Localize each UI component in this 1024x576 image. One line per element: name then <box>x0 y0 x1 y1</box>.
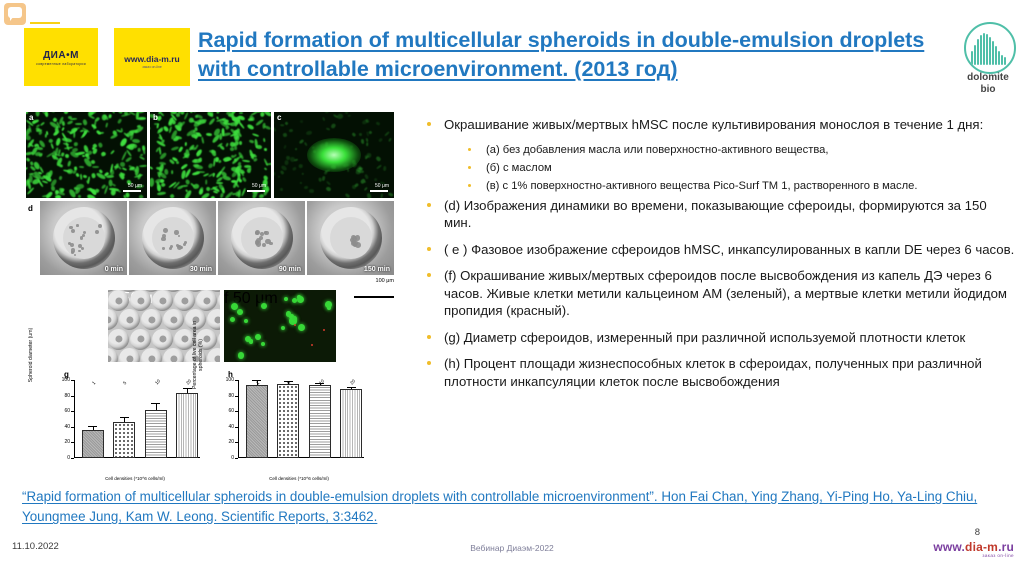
chart-g: g Spheroid diameter (um) 020406080100151… <box>40 372 210 490</box>
bullet-subitem: (а) без добавления масла или поверхностн… <box>462 143 1016 158</box>
bullet-item: (d) Изображения динамики во времени, пок… <box>424 197 1016 232</box>
panel-d-label: d <box>28 204 33 213</box>
chart-g-ylabel: Spheroid diameter (um) <box>28 320 34 390</box>
panel-d-scale-bar <box>354 296 394 298</box>
logo-dolomite-line2: bio <box>958 84 1018 95</box>
y-axis-tick <box>71 442 74 443</box>
bullet-subitem: (в) с 1% поверхностно-активного вещества… <box>462 179 1016 194</box>
chart-bar <box>246 385 268 458</box>
figure-row-ef: e 50 μm f 50 μm <box>108 290 338 362</box>
x-axis-tick-label: 5 <box>122 380 127 385</box>
panel-f-label: f <box>224 290 228 307</box>
citation-link[interactable]: “Rapid formation of multicellular sphero… <box>22 487 997 527</box>
slide-root: ДИА•М современные лаборатории www.dia-m.… <box>0 0 1024 576</box>
y-axis-tick-label: 40 <box>228 424 234 430</box>
error-bar <box>124 418 125 422</box>
footer-center-text: Вебинар Диаэм-2022 <box>0 543 1024 553</box>
bullet-item: (g) Диаметр сфероидов, измеренный при ра… <box>424 329 1016 347</box>
y-axis-tick <box>71 411 74 412</box>
y-axis-tick <box>235 380 238 381</box>
droplet-time-0: 0 min <box>105 266 123 273</box>
logo-diam-name: ДИА•М <box>24 50 98 61</box>
logo-diam-tagline: современные лаборатории <box>24 62 98 66</box>
figure-row-abc: a 50 μm b 50 μm c 50 μm <box>26 112 394 198</box>
bullet-item: Окрашивание живых/мертвых hMSC после кул… <box>424 116 1016 134</box>
y-axis-tick <box>235 396 238 397</box>
dolomite-circle-icon <box>964 22 1016 74</box>
footer-logo: www.dia-m.ru заказ on-line <box>933 540 1014 558</box>
panel-b-label: b <box>153 113 158 122</box>
y-axis-tick <box>71 458 74 459</box>
logo-website: www.dia-m.ru заказ on-line <box>114 28 190 86</box>
y-axis-tick <box>235 427 238 428</box>
y-axis-tick <box>235 442 238 443</box>
slide-title: Rapid formation of multicellular spheroi… <box>198 26 950 84</box>
y-axis-tick-label: 80 <box>64 393 70 399</box>
panel-d-scalebar-group: 100 μm <box>342 278 394 303</box>
figure-panel-c: c 50 μm <box>274 112 394 198</box>
bullet-item: ( e ) Фазовое изображение сфероидов hMSC… <box>424 241 1016 259</box>
chart-h: h Percentage of live cell area in sphero… <box>204 372 374 490</box>
logo-dolomite-line1: dolomite <box>958 72 1018 83</box>
y-axis-tick-label: 100 <box>62 377 70 383</box>
panel-a-scale-text: 50 μm <box>128 183 142 189</box>
droplet-frame-2: 90 min <box>218 201 305 275</box>
panel-d-scale-text: 100 μm <box>342 278 394 285</box>
y-axis-tick-label: 40 <box>64 424 70 430</box>
y-axis-tick-label: 20 <box>228 439 234 445</box>
x-axis-tick-label: 20 <box>349 378 356 385</box>
panel-b-scale-bar <box>247 190 265 193</box>
yellow-rule-decoration <box>30 22 60 24</box>
chart-bar <box>113 422 135 458</box>
droplet-frame-0: 0 min <box>40 201 127 275</box>
comment-bubble-icon <box>4 3 26 25</box>
chart-bar <box>277 384 299 458</box>
y-axis-tick <box>235 458 238 459</box>
chart-bar <box>309 385 331 458</box>
chart-bar <box>340 389 362 458</box>
panel-a-scale-bar <box>123 190 141 193</box>
logo-dolomite-bio: dolomite bio <box>958 22 1018 100</box>
error-bar-cap <box>183 388 192 389</box>
logo-website-url: www.dia-m.ru <box>114 54 190 64</box>
error-bar-cap <box>120 417 129 418</box>
error-bar <box>156 404 157 410</box>
error-bar <box>93 427 94 430</box>
panel-c-label: c <box>277 113 281 122</box>
bullet-subitem: (б) с маслом <box>462 161 1016 176</box>
chart-bar <box>176 393 198 458</box>
y-axis-tick-label: 60 <box>64 408 70 414</box>
x-axis-tick-label: 1 <box>91 380 96 385</box>
droplet-frame-1: 30 min <box>129 201 216 275</box>
panel-c-aggregate <box>307 138 361 172</box>
x-axis-tick-label: 10 <box>154 378 161 385</box>
error-bar-cap <box>347 387 356 388</box>
logo-website-tagline: заказ on-line <box>114 65 190 69</box>
panel-c-scale-text: 50 μm <box>375 183 389 189</box>
figure-row-d: 0 min 30 min 90 min 150 min <box>40 201 394 275</box>
y-axis-tick <box>235 411 238 412</box>
error-bar <box>187 389 188 394</box>
panel-f-scale-text: 50 μm <box>233 290 278 307</box>
panel-c-scale-bar <box>370 190 388 193</box>
chart-bar <box>145 410 167 458</box>
y-axis-tick-label: 0 <box>67 455 70 461</box>
y-axis-tick <box>71 380 74 381</box>
droplet-time-3: 150 min <box>364 266 390 273</box>
figure-panel-b: b 50 μm <box>150 112 271 198</box>
panel-b-scale-text: 50 μm <box>252 183 266 189</box>
y-axis-tick <box>71 396 74 397</box>
logo-diam: ДИА•М современные лаборатории <box>24 28 98 86</box>
bullet-list: Окрашивание живых/мертвых hMSC после кул… <box>424 116 1016 399</box>
error-bar <box>351 388 352 390</box>
footer-logo-url: www.dia-m.ru <box>933 540 1014 554</box>
page-number: 8 <box>975 527 980 538</box>
chart-g-xlabel: Cell densities (*10^6 cells/ml) <box>60 476 210 481</box>
panel-a-label: a <box>29 113 33 122</box>
chart-h-xlabel: Cell densities (*10^6 cells/ml) <box>224 476 374 481</box>
figure-panel-a: a 50 μm <box>26 112 147 198</box>
droplet-time-2: 90 min <box>279 266 301 273</box>
error-bar-cap <box>88 426 97 427</box>
bullet-item: (f) Окрашивание живых/мертвых сфероидов … <box>424 267 1016 320</box>
droplet-frame-3: 150 min <box>307 201 394 275</box>
chart-bar <box>82 430 104 458</box>
y-axis-tick-label: 20 <box>64 439 70 445</box>
droplet-time-1: 30 min <box>190 266 212 273</box>
y-axis-tick-label: 100 <box>226 377 234 383</box>
bullet-item: (h) Процент площади жизнеспособных клето… <box>424 355 1016 390</box>
y-axis-tick <box>71 427 74 428</box>
figure-panel-f: f 50 μm <box>224 290 336 362</box>
chart-h-ylabel: Percentage of live cell area in spheroid… <box>192 320 204 390</box>
error-bar-cap <box>151 403 160 404</box>
y-axis-tick-label: 60 <box>228 408 234 414</box>
y-axis-tick-label: 0 <box>231 455 234 461</box>
charts-container: g Spheroid diameter (um) 020406080100151… <box>26 372 394 490</box>
y-axis-tick-label: 80 <box>228 393 234 399</box>
